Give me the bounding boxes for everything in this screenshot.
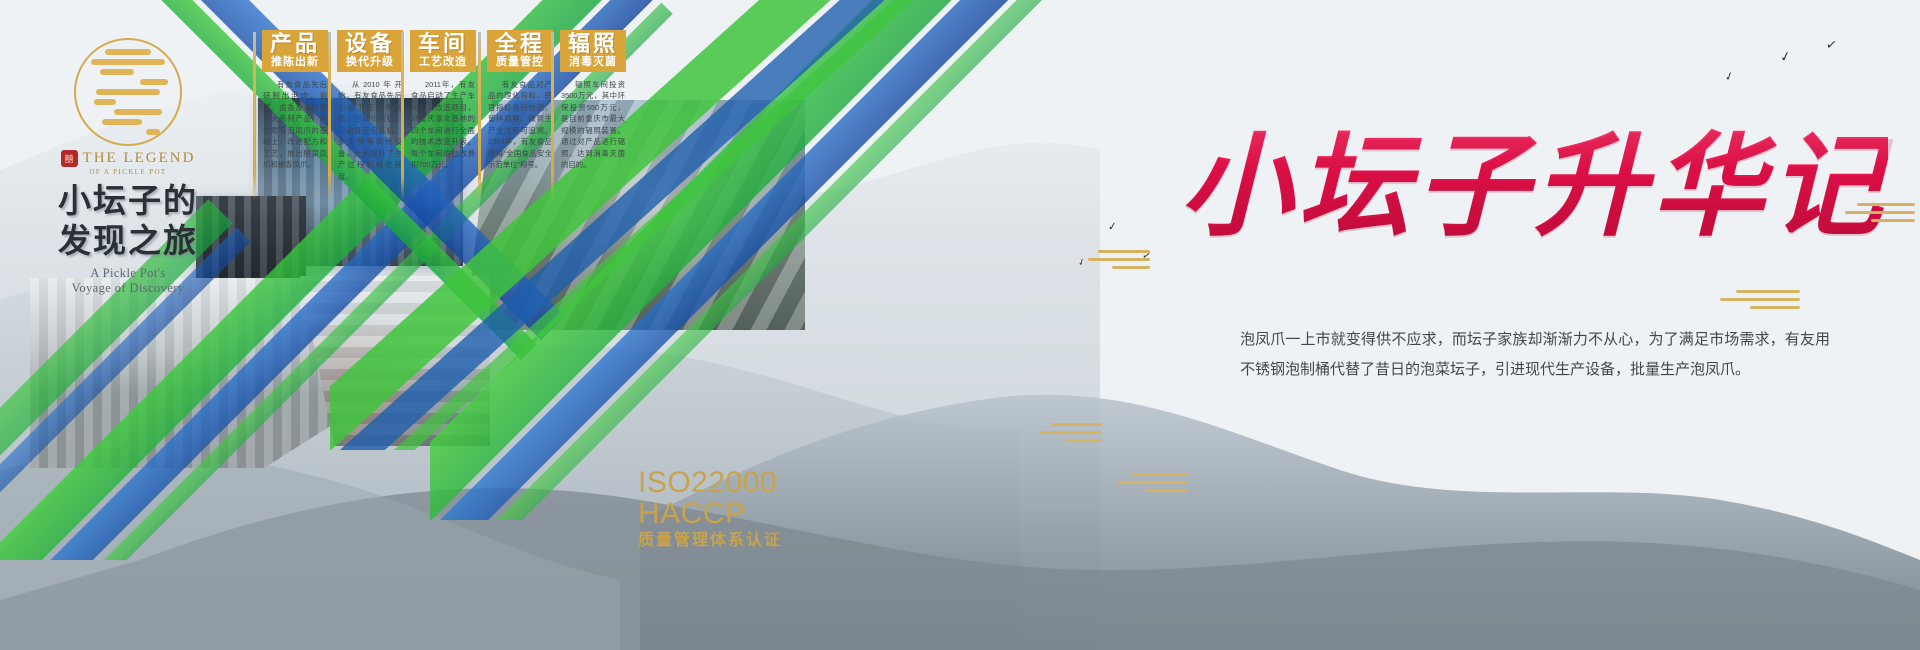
- info-column-product: 产品 推陈出新 有友食品先后研制出泡肉、泡菜、卤香及海鲜等几大系列产品，并在原有…: [262, 30, 328, 171]
- brand-cn-line1: 小坛子的: [40, 184, 216, 217]
- column-body: 辐照车间投资3500万元，其中环保投资550万元，是目前重庆市最大规模的辐照装置…: [560, 79, 626, 171]
- cloud-ornament-top-right: [1845, 198, 1915, 227]
- column-head: 产品 推陈出新: [262, 30, 328, 72]
- column-title: 辐照: [562, 33, 624, 55]
- brand-en-line2: Voyage of Discovery: [40, 281, 216, 296]
- column-rule: [478, 32, 481, 200]
- brand-en-line1: A Pickle Pot's: [40, 266, 216, 281]
- page-title: 小坛子升华记: [1180, 96, 1888, 258]
- certification-line-cn: 质量管理体系认证: [638, 533, 782, 549]
- column-subtitle: 质量管控: [489, 57, 551, 68]
- column-title: 车间: [412, 33, 474, 55]
- body-paragraph: 泡凤爪一上市就变得供不应求，而坛子家族却渐渐力不从心，为了满足市场需求，有友用不…: [1240, 325, 1830, 385]
- certification-line-haccp: HACCP: [638, 499, 782, 530]
- column-title: 全程: [489, 33, 551, 55]
- column-subtitle: 换代升级: [339, 57, 401, 68]
- cloud-ornament-right: [1720, 285, 1800, 314]
- certification-block: ISO22000 HACCP 质量管理体系认证: [638, 468, 782, 550]
- column-body: 2011年，有友食品启动了生产车间工艺改造项目，对重庆渝北基地的四个车间进行全面…: [410, 79, 476, 171]
- info-column-workshop: 车间 工艺改造 2011年，有友食品启动了生产车间工艺改造项目，对重庆渝北基地的…: [410, 30, 476, 171]
- bird-icon: ✓: [1107, 221, 1118, 233]
- column-body: 有友食品先后研制出泡肉、泡菜、卤香及海鲜等几大系列产品，并在原有泡凤爪的基础上，…: [262, 79, 328, 171]
- banner-canvas: 囍 THE LEGEND OF A PICKLE POT 小坛子的 发现之旅 A…: [0, 0, 1920, 650]
- bird-icon: ✓: [1825, 37, 1838, 51]
- pickle-pot-seal-icon: [74, 38, 182, 146]
- column-title: 设备: [339, 33, 401, 55]
- legend-sub-text: OF A PICKLE POT: [40, 168, 216, 176]
- brand-lockup: 囍 THE LEGEND OF A PICKLE POT 小坛子的 发现之旅 A…: [40, 38, 216, 296]
- column-rule: [401, 32, 404, 200]
- info-column-equipment: 设备 换代升级 从2010年开始，有友食品先后引进了连续煮制机、自动切制机、自动…: [337, 30, 403, 182]
- column-title: 产品: [264, 33, 326, 55]
- legend-row: 囍 THE LEGEND: [40, 150, 216, 167]
- cloud-ornament-mid: [1040, 418, 1102, 447]
- brand-cn-line2: 发现之旅: [40, 224, 216, 257]
- certification-line-iso: ISO22000: [638, 468, 782, 499]
- cloud-ornament-lower: [1118, 468, 1188, 497]
- column-subtitle: 推陈出新: [264, 57, 326, 68]
- column-body: 有友食品对产品的理化指标、感官指标进行检测、留样观察，做到生产全过程可追溯。20…: [487, 79, 553, 171]
- column-rule: [551, 32, 554, 200]
- column-subtitle: 工艺改造: [412, 57, 474, 68]
- column-head: 车间 工艺改造: [410, 30, 476, 72]
- column-rule: [328, 32, 331, 200]
- info-column-quality: 全程 质量管控 有友食品对产品的理化指标、感官指标进行检测、留样观察，做到生产全…: [487, 30, 553, 171]
- legend-en-text: THE LEGEND: [83, 150, 196, 167]
- column-head: 设备 换代升级: [337, 30, 403, 72]
- column-body: 从2010年开始，有友食品先后引进了连续煮制机、自动切制机、自动真空包装机、多头…: [337, 79, 403, 182]
- column-head: 全程 质量管控: [487, 30, 553, 72]
- column-head: 辐照 消毒灭菌: [560, 30, 626, 72]
- red-chop-icon: 囍: [61, 150, 78, 167]
- column-subtitle: 消毒灭菌: [562, 57, 624, 68]
- info-column-irradiation: 辐照 消毒灭菌 辐照车间投资3500万元，其中环保投资550万元，是目前重庆市最…: [560, 30, 626, 171]
- column-rule: [253, 32, 256, 200]
